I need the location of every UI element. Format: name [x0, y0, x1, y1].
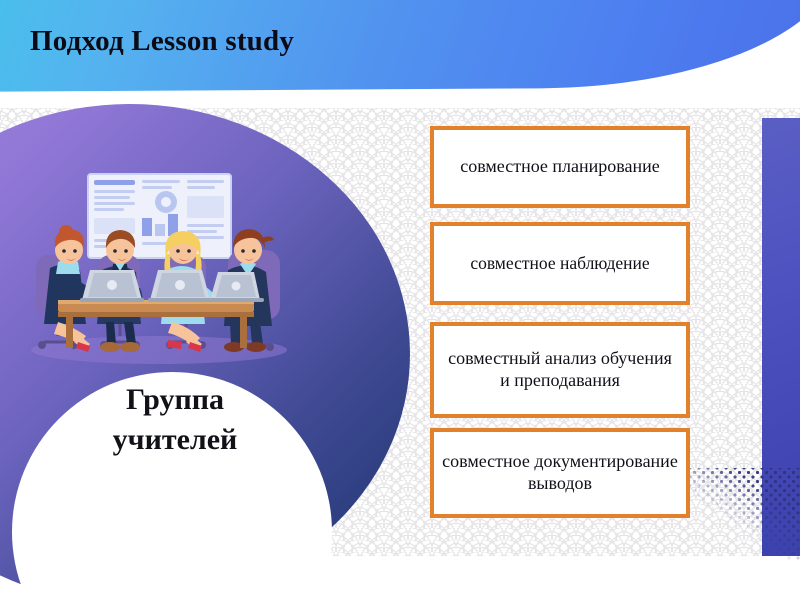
step-box-label: совместное документирование выводов: [434, 451, 686, 495]
step-box-label: совместный анализ обучения и преподавани…: [434, 348, 686, 392]
group-label-line-1: Группа: [55, 380, 295, 420]
group-label: Группа учителей: [55, 380, 295, 459]
teachers-meeting-illustration: [14, 150, 304, 370]
slide-canvas: Подход Lesson study: [0, 0, 800, 600]
step-box-label: совместное планирование: [452, 156, 668, 178]
step-box-joint-documentation[interactable]: совместное документирование выводов: [430, 428, 690, 518]
step-box-label: совместное наблюдение: [462, 253, 657, 274]
step-box-joint-analysis[interactable]: совместный анализ обучения и преподавани…: [430, 322, 690, 418]
step-box-joint-observation[interactable]: совместное наблюдение: [430, 222, 690, 305]
group-label-line-2: учителей: [55, 420, 295, 460]
dot-grid-decoration: [690, 468, 800, 560]
step-box-joint-planning[interactable]: совместное планирование: [430, 126, 690, 208]
page-title: Подход Lesson study: [30, 25, 294, 58]
